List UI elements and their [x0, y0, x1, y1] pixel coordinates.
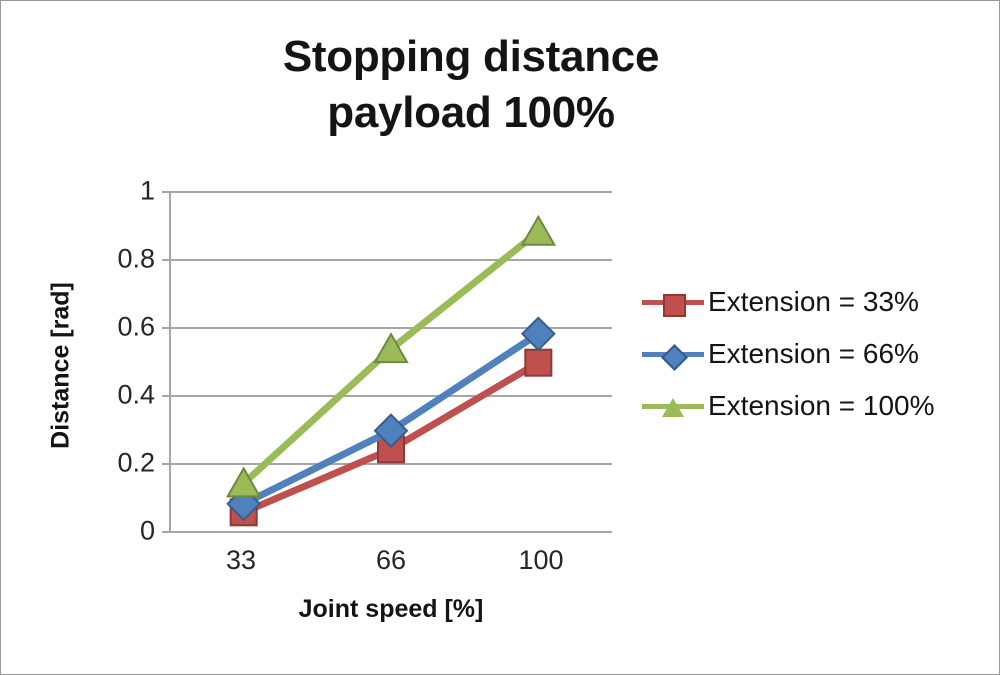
y-tick-0.6 [162, 327, 170, 329]
y-tick-label-0.2: 0.2 [91, 448, 155, 479]
x-tick-label-66: 66 [331, 545, 451, 576]
legend-label-extension-100: Extension = 100% [708, 390, 935, 422]
legend-label-extension-33: Extension = 33% [708, 286, 919, 318]
y-tick-0.4 [162, 395, 170, 397]
gridline-0.2 [170, 463, 612, 465]
y-tick-label-0.8: 0.8 [91, 244, 155, 275]
x-tick-label-33: 33 [181, 545, 301, 576]
y-tick-label-0: 0 [91, 516, 155, 547]
legend-key-square-red [642, 287, 704, 317]
gridline-0.8 [170, 259, 612, 261]
legend-key-triangle-green [642, 391, 704, 421]
legend-item-extension-100[interactable]: Extension = 100% [642, 380, 992, 432]
plot-area [170, 191, 612, 531]
legend-item-extension-66[interactable]: Extension = 66% [642, 328, 992, 380]
y-axis-title: Distance [rad] [47, 256, 76, 476]
gridline-1 [170, 191, 612, 193]
chart-screenshot: Stopping distance payload 100% Distance … [0, 0, 1000, 675]
y-tick-0 [162, 531, 170, 533]
y-tick-label-1: 1 [91, 176, 155, 207]
y-tick-0.2 [162, 463, 170, 465]
x-axis-line [170, 531, 612, 533]
chart-title-line1: Stopping distance [283, 32, 659, 81]
x-tick-label-100: 100 [481, 545, 601, 576]
legend-key-diamond-blue [642, 339, 704, 369]
y-tick-1 [162, 191, 170, 193]
gridline-0.6 [170, 327, 612, 329]
legend: Extension = 33% Extension = 66% Extensio… [642, 276, 992, 432]
x-axis-title: Joint speed [%] [170, 595, 612, 624]
legend-item-extension-33[interactable]: Extension = 33% [642, 276, 992, 328]
chart-title: Stopping distance payload 100% [121, 29, 821, 142]
y-tick-0.8 [162, 259, 170, 261]
chart-title-line2: payload 100% [121, 85, 821, 141]
y-tick-label-0.6: 0.6 [91, 312, 155, 343]
legend-label-extension-66: Extension = 66% [708, 338, 919, 370]
gridline-0.4 [170, 395, 612, 397]
y-tick-label-0.4: 0.4 [91, 380, 155, 411]
